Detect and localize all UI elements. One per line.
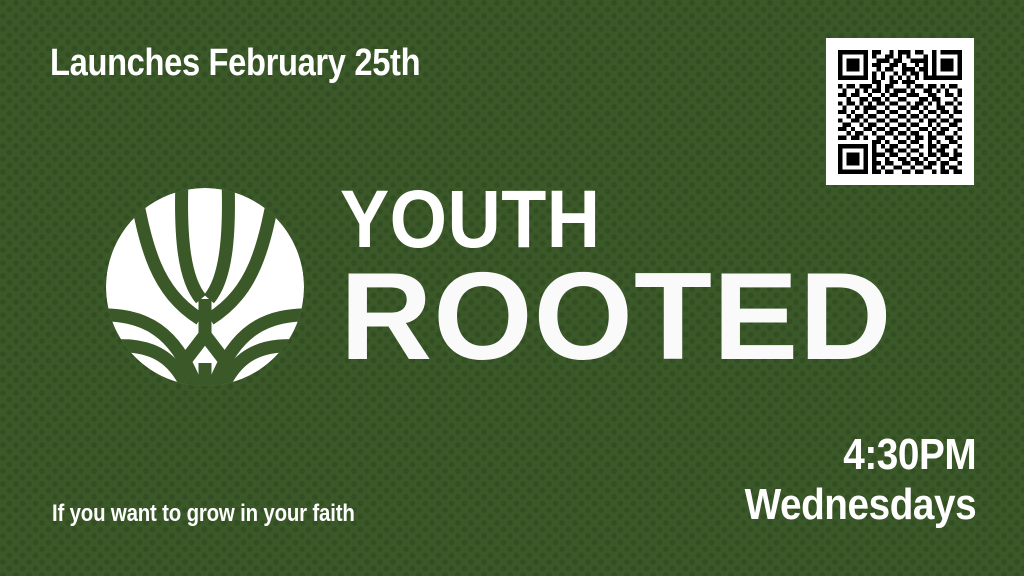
schedule-time: 4:30PM	[744, 432, 976, 478]
wordmark-youth: YOUTH	[340, 186, 823, 255]
launch-date-headline: Launches February 25th	[50, 44, 420, 82]
schedule-day: Wednesdays	[744, 482, 976, 528]
wordmark: YOUTH ROOTED	[340, 186, 876, 369]
roots-circle-logo-icon	[104, 187, 306, 387]
qr-code-icon	[838, 50, 962, 174]
tagline-text: If you want to grow in your faith	[52, 502, 355, 526]
qr-code-card[interactable]	[826, 38, 974, 185]
wordmark-rooted: ROOTED	[340, 267, 893, 369]
announcement-slide: Launches February 25th	[0, 0, 1024, 576]
schedule-block: 4:30PM Wednesdays	[713, 432, 976, 528]
